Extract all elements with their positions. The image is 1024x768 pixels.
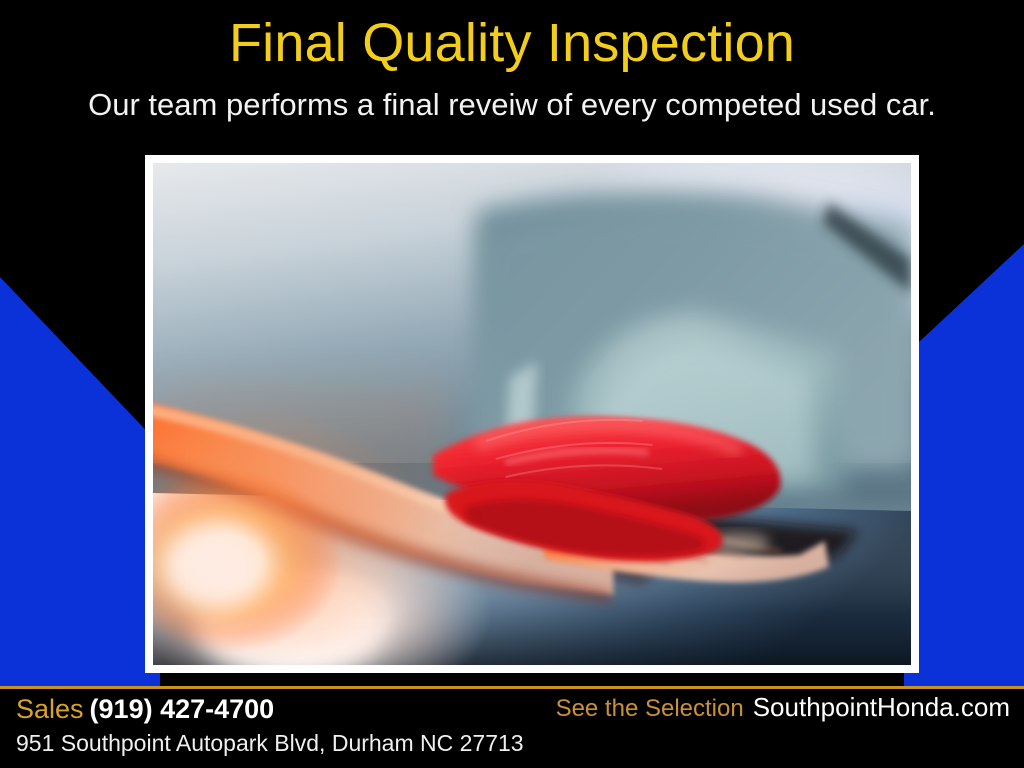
photo-detailing-car: [153, 163, 911, 665]
dealership-address: 951 Southpoint Autopark Blvd, Durham NC …: [16, 730, 524, 757]
website-url[interactable]: SouthpointHonda.com: [753, 692, 1010, 722]
contact-footer: Sales(919) 427-4700 951 Southpoint Autop…: [0, 686, 1024, 768]
page-subtitle: Our team performs a final reveiw of ever…: [0, 86, 1024, 124]
photo-frame: [145, 155, 919, 673]
slide-canvas: Final Quality Inspection Our team perfor…: [0, 0, 1024, 768]
sales-contact: Sales(919) 427-4700: [16, 694, 274, 725]
blue-wedge-right: [904, 230, 1024, 690]
sales-phone-number[interactable]: (919) 427-4700: [90, 694, 275, 724]
page-title: Final Quality Inspection: [0, 12, 1024, 74]
blue-wedge-left: [0, 255, 160, 690]
website-contact: See the SelectionSouthpointHonda.com: [556, 692, 1010, 723]
sales-label: Sales: [16, 694, 84, 724]
see-the-selection-label: See the Selection: [556, 695, 744, 722]
